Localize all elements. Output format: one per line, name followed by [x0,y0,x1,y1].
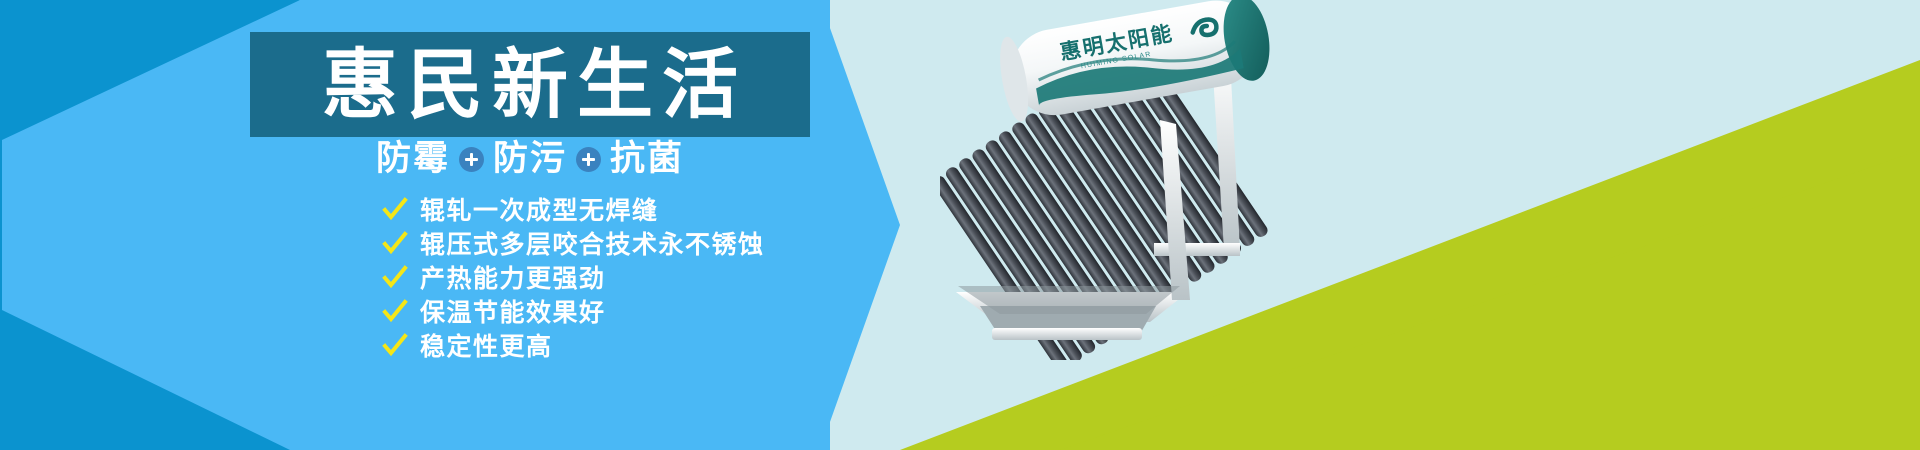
plus-circle-icon [576,147,601,172]
list-item: 辊轧一次成型无焊缝 [382,194,765,226]
check-icon [382,197,408,223]
check-icon [382,333,408,359]
feature-label: 辊压式多层咬合技术永不锈蚀 [420,232,765,257]
subtitle-row: 防霉 防污 抗菌 [250,142,810,177]
list-item: 辊压式多层咬合技术永不锈蚀 [382,228,765,260]
feature-label: 产热能力更强劲 [420,266,606,291]
feature-label: 稳定性更高 [420,334,553,359]
headline-box: 惠民新生活 [250,32,810,137]
solar-water-heater-svg: 惠明太阳能 HUIMING SOLAR [940,0,1360,360]
feature-list: 辊轧一次成型无焊缝 辊压式多层咬合技术永不锈蚀 产热能力更强劲 [382,194,765,364]
check-icon [382,299,408,325]
list-item: 稳定性更高 [382,330,765,362]
check-icon [382,265,408,291]
subtitle-word-1: 防霉 [376,142,450,177]
subtitle-word-2: 防污 [493,142,567,177]
feature-label: 辊轧一次成型无焊缝 [420,198,659,223]
feature-label: 保温节能效果好 [420,300,606,325]
page-title: 惠民新生活 [313,47,747,123]
promo-banner: 惠民新生活 防霉 防污 抗菌 辊轧一次成型无焊缝 辊压式多层咬合技术永不锈蚀 [0,0,1920,450]
plus-circle-icon [459,147,484,172]
list-item: 保温节能效果好 [382,296,765,328]
product-image: 惠明太阳能 HUIMING SOLAR [940,0,1360,360]
check-icon [382,231,408,257]
subtitle-word-3: 抗菌 [610,142,684,177]
list-item: 产热能力更强劲 [382,262,765,294]
